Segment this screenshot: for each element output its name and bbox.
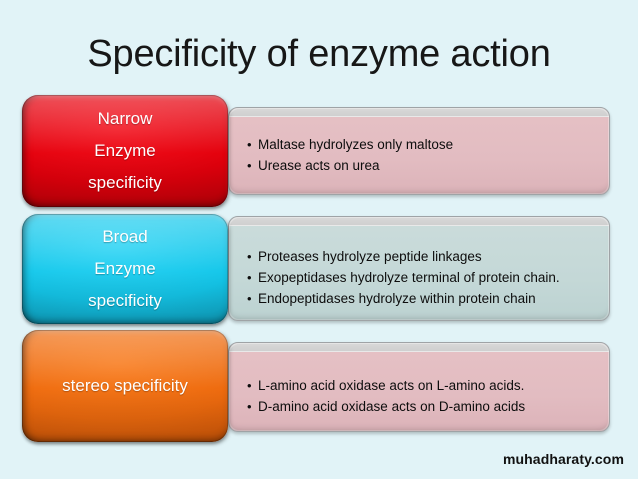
list-item: Exopeptidases hydrolyze terminal of prot… [247, 267, 599, 288]
row-broad-specificity: Proteases hydrolyze peptide linkages Exo… [0, 214, 638, 324]
content-box-narrow: Maltase hydrolyzes only maltose Urease a… [228, 107, 610, 195]
list-item: Proteases hydrolyze peptide linkages [247, 246, 599, 267]
label-line: Enzyme [94, 253, 155, 285]
label-box-narrow-enzyme-specificity: Narrow Enzyme specificity [22, 95, 228, 207]
row-stereo-specificity: L-amino acid oxidase acts on L-amino aci… [0, 330, 638, 442]
row-narrow-specificity: Maltase hydrolyzes only maltose Urease a… [0, 95, 638, 207]
label-line: stereo specificity [62, 370, 188, 402]
content-box-broad: Proteases hydrolyze peptide linkages Exo… [228, 216, 610, 321]
bullet-list-broad: Proteases hydrolyze peptide linkages Exo… [229, 222, 609, 309]
label-line: specificity [88, 285, 162, 317]
content-box-stereo: L-amino acid oxidase acts on L-amino aci… [228, 342, 610, 432]
list-item: Endopeptidases hydrolyze within protein … [247, 288, 599, 309]
label-line: Broad [102, 221, 147, 253]
list-item: L-amino acid oxidase acts on L-amino aci… [247, 375, 599, 396]
label-box-stereo-specificity: stereo specificity [22, 330, 228, 442]
page-title: Specificity of enzyme action [0, 31, 638, 77]
watermark: muhadharaty.com [503, 451, 624, 467]
bullet-list-stereo: L-amino acid oxidase acts on L-amino aci… [229, 348, 609, 417]
list-item: D-amino acid oxidase acts on D-amino aci… [247, 396, 599, 417]
label-line: Narrow [98, 103, 153, 135]
label-box-broad-enzyme-specificity: Broad Enzyme specificity [22, 214, 228, 324]
list-item: Urease acts on urea [247, 155, 599, 176]
bullet-list-narrow: Maltase hydrolyzes only maltose Urease a… [229, 113, 609, 176]
label-line: specificity [88, 167, 162, 199]
list-item: Maltase hydrolyzes only maltose [247, 134, 599, 155]
label-line: Enzyme [94, 135, 155, 167]
